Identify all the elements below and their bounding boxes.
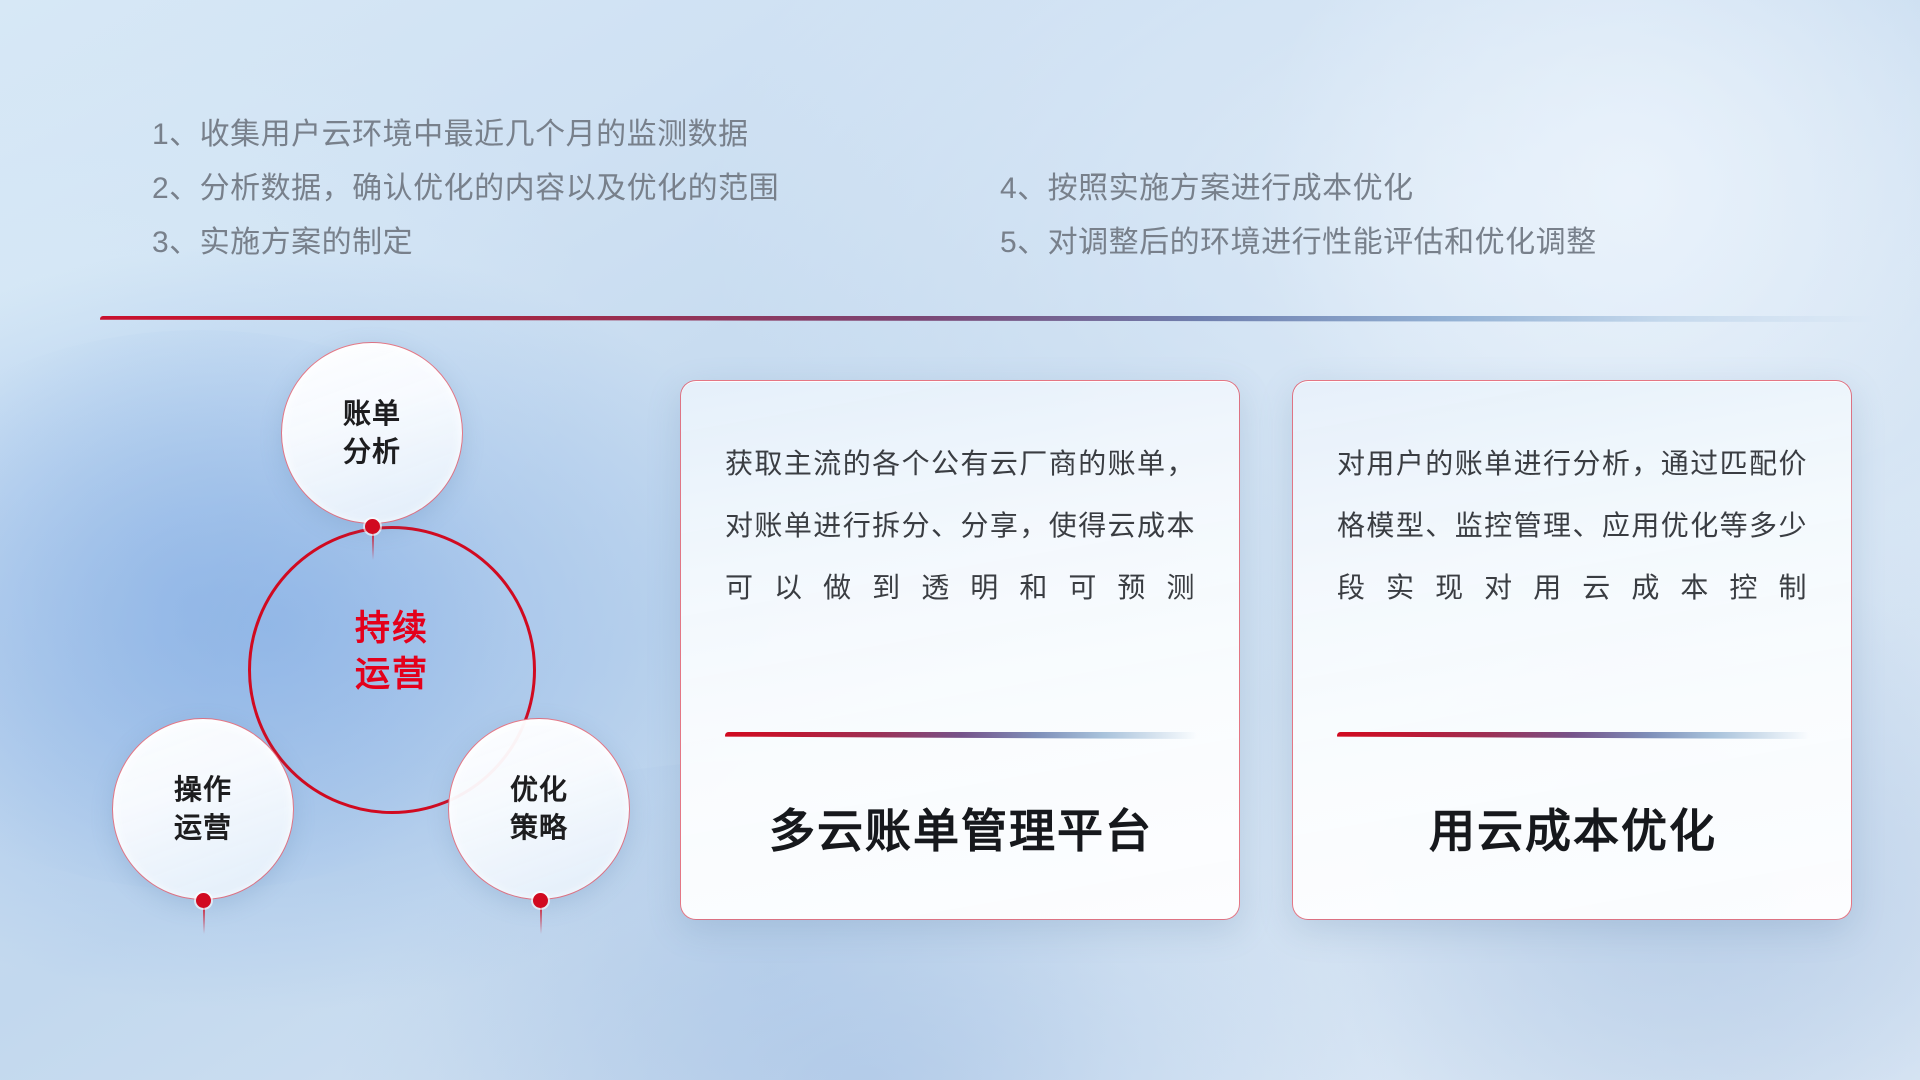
node-dot-top [365, 519, 380, 534]
card-body-text: 对用户的账单进行分析，通过匹配价格模型、监控管理、应用优化等多少段实现对用云成本… [1337, 433, 1807, 619]
card-title: 用云成本优化 [1337, 795, 1809, 861]
steps-right-column: 4、按照实施方案进行成本优化 5、对调整后的环境进行性能评估和优化调整 [1000, 162, 1597, 270]
bubble-label-line-2: 运营 [174, 809, 232, 847]
node-dot-bottom-left [196, 893, 211, 908]
step-item-1: 1、收集用户云环境中最近几个月的监测数据 [152, 108, 779, 162]
diagram-center-label: 持续 运营 [310, 606, 474, 698]
continuous-operation-diagram: 持续 运营 账单 分析 操作 运营 优化 策略 [96, 350, 636, 950]
step-item-2: 2、分析数据，确认优化的内容以及优化的范围 [152, 162, 779, 216]
node-tail-top [372, 534, 374, 560]
bubble-label-line-2: 分析 [343, 433, 401, 471]
diagram-bubble-optimization-strategy[interactable]: 优化 策略 [448, 718, 630, 900]
node-dot-bottom-right [533, 893, 548, 908]
diagram-bubble-bill-analysis[interactable]: 账单 分析 [281, 342, 463, 524]
card-title: 多云账单管理平台 [725, 795, 1197, 861]
diagram-bubble-operation[interactable]: 操作 运营 [112, 718, 294, 900]
bubble-label-line-1: 账单 [343, 395, 401, 433]
step-item-3: 3、实施方案的制定 [152, 216, 779, 270]
section-divider-rule [100, 316, 1875, 322]
card-accent-rule [1337, 732, 1809, 739]
step-item-5: 5、对调整后的环境进行性能评估和优化调整 [1000, 216, 1597, 270]
slide-canvas: 1、收集用户云环境中最近几个月的监测数据 2、分析数据，确认优化的内容以及优化的… [0, 0, 1920, 1080]
bubble-label-line-1: 操作 [174, 771, 232, 809]
card-accent-rule [725, 732, 1197, 739]
node-tail-bottom-left [203, 908, 205, 934]
card-cloud-cost-optimization[interactable]: 对用户的账单进行分析，通过匹配价格模型、监控管理、应用优化等多少段实现对用云成本… [1292, 380, 1852, 920]
node-tail-bottom-right [540, 908, 542, 934]
center-label-line-2: 运营 [310, 652, 474, 698]
steps-left-column: 1、收集用户云环境中最近几个月的监测数据 2、分析数据，确认优化的内容以及优化的… [152, 108, 779, 270]
center-label-line-1: 持续 [310, 606, 474, 652]
card-multicloud-billing-platform[interactable]: 获取主流的各个公有云厂商的账单，对账单进行拆分、分享，使得云成本可以做到透明和可… [680, 380, 1240, 920]
step-item-4: 4、按照实施方案进行成本优化 [1000, 162, 1597, 216]
bubble-label-line-2: 策略 [510, 809, 568, 847]
bubble-label-line-1: 优化 [510, 771, 568, 809]
card-body-text: 获取主流的各个公有云厂商的账单，对账单进行拆分、分享，使得云成本可以做到透明和可… [725, 433, 1195, 619]
